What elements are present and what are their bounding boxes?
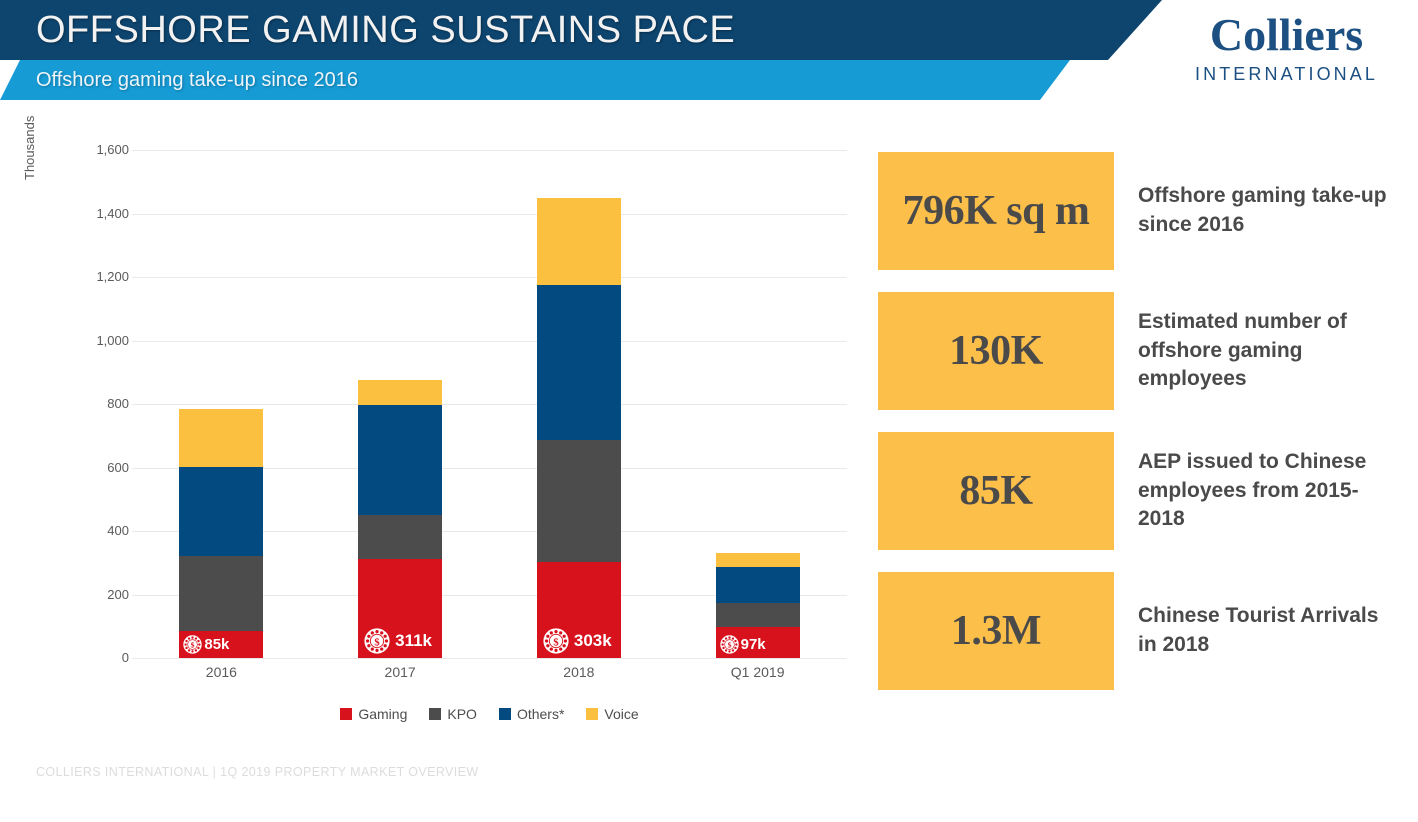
bar-slot: $85k (132, 150, 311, 658)
y-axis-tick-label: 400 (49, 523, 129, 538)
stat-description: Estimated number of offshore gaming empl… (1138, 308, 1398, 395)
casino-chip-icon: $ (364, 628, 390, 654)
stat-description: Offshore gaming take-up since 2016 (1138, 182, 1398, 240)
bar-segment-gaming: $85k (179, 631, 263, 658)
bar-value-annotation: $97k (720, 635, 766, 654)
bar-segment-kpo (716, 603, 800, 627)
y-axis-tick-label: 1,200 (49, 269, 129, 284)
bar-segment-voice (179, 409, 263, 467)
bar-segment-kpo (179, 556, 263, 631)
page-subtitle: Offshore gaming take-up since 2016 (36, 69, 358, 92)
legend-swatch-icon (586, 708, 598, 720)
bar-segment-kpo (537, 440, 621, 562)
stat-value: 1.3M (951, 607, 1041, 655)
bar-segment-others (716, 567, 800, 603)
bar-segment-gaming: $303k (537, 562, 621, 658)
y-axis-tick-label: 200 (49, 587, 129, 602)
bar-value-text: 85k (204, 636, 229, 653)
svg-text:$: $ (191, 641, 195, 650)
legend-swatch-icon (340, 708, 352, 720)
bar-segment-voice (358, 380, 442, 405)
legend-label: Voice (604, 706, 638, 722)
bar-2018[interactable]: $303k (537, 198, 621, 658)
svg-text:$: $ (727, 641, 731, 650)
stat-card: 796K sq mOffshore gaming take-up since 2… (878, 152, 1398, 270)
stat-value: 85K (959, 467, 1032, 515)
casino-chip-icon: $ (720, 635, 739, 654)
stat-card: 130KEstimated number of offshore gaming … (878, 292, 1398, 410)
legend-item-others[interactable]: Others* (499, 706, 564, 722)
legend-label: KPO (447, 706, 477, 722)
stat-value: 796K sq m (903, 187, 1090, 235)
bar-segment-others (537, 285, 621, 440)
stat-card: 85KAEP issued to Chinese employees from … (878, 432, 1398, 550)
stat-description: Chinese Tourist Arrivals in 2018 (1138, 602, 1398, 660)
logo-subtext: INTERNATIONAL (1195, 64, 1378, 85)
header-banner-secondary: Offshore gaming take-up since 2016 (0, 60, 1070, 100)
legend-swatch-icon (499, 708, 511, 720)
y-axis-tick-label: 1,600 (49, 142, 129, 157)
legend-item-voice[interactable]: Voice (586, 706, 638, 722)
bar-slot: $303k (490, 150, 669, 658)
bar-value-text: 303k (574, 631, 612, 651)
stat-value-box: 85K (878, 432, 1114, 550)
bar-segment-kpo (358, 515, 442, 559)
legend-swatch-icon (429, 708, 441, 720)
chart-bars: $85k$311k$303k$97k (132, 150, 847, 658)
x-axis-tick-label: 2018 (490, 664, 669, 680)
stat-card: 1.3MChinese Tourist Arrivals in 2018 (878, 572, 1398, 690)
stacked-bar-chart: 1,6001,4001,2001,0008006004002000 $85k$3… (22, 150, 852, 740)
bar-segment-voice (716, 553, 800, 567)
gridline (132, 658, 847, 659)
y-axis-tick-label: 1,000 (49, 333, 129, 348)
y-axis-tick-label: 800 (49, 396, 129, 411)
stat-value-box: 796K sq m (878, 152, 1114, 270)
bar-segment-others (179, 467, 263, 556)
casino-chip-icon: $ (543, 628, 569, 654)
bar-slot: $97k (668, 150, 847, 658)
bar-segment-voice (537, 198, 621, 285)
y-axis-tick-label: 1,400 (49, 206, 129, 221)
bar-segment-others (358, 405, 442, 515)
legend-item-kpo[interactable]: KPO (429, 706, 477, 722)
x-axis-tick-label: Q1 2019 (668, 664, 847, 680)
bar-value-text: 311k (395, 631, 432, 651)
legend-label: Gaming (358, 706, 407, 722)
colliers-logo: Colliers INTERNATIONAL (1195, 12, 1378, 85)
casino-chip-icon: $ (183, 635, 202, 654)
page-title: OFFSHORE GAMING SUSTAINS PACE (36, 9, 735, 52)
bar-value-annotation: $303k (543, 628, 612, 654)
slide-root: OFFSHORE GAMING SUSTAINS PACE Offshore g… (0, 0, 1418, 822)
x-axis-tick-label: 2016 (132, 664, 311, 680)
stat-value: 130K (949, 327, 1043, 375)
bar-segment-gaming: $97k (716, 627, 800, 658)
stat-value-box: 1.3M (878, 572, 1114, 690)
footer-text: COLLIERS INTERNATIONAL | 1Q 2019 PROPERT… (36, 765, 479, 779)
bar-value-annotation: $85k (183, 635, 229, 654)
bar-segment-gaming: $311k (358, 559, 442, 658)
bar-2017[interactable]: $311k (358, 380, 442, 658)
legend-item-gaming[interactable]: Gaming (340, 706, 407, 722)
bar-2016[interactable]: $85k (179, 409, 263, 658)
y-axis-tick-label: 0 (49, 650, 129, 665)
chart-legend: GamingKPOOthers*Voice (132, 706, 847, 722)
bar-q1-2019[interactable]: $97k (716, 553, 800, 658)
stat-description: AEP issued to Chinese employees from 201… (1138, 448, 1398, 535)
logo-wordmark: Colliers (1195, 12, 1378, 58)
bar-value-text: 97k (741, 636, 766, 653)
stat-card-list: 796K sq mOffshore gaming take-up since 2… (878, 152, 1398, 712)
x-axis-labels: 201620172018Q1 2019 (132, 664, 847, 680)
stat-value-box: 130K (878, 292, 1114, 410)
legend-label: Others* (517, 706, 564, 722)
bar-slot: $311k (311, 150, 490, 658)
svg-text:$: $ (553, 637, 558, 648)
header-banner-primary: OFFSHORE GAMING SUSTAINS PACE (0, 0, 1162, 60)
bar-value-annotation: $311k (364, 628, 432, 654)
chart-plot-area: 1,6001,4001,2001,0008006004002000 $85k$3… (132, 150, 847, 658)
svg-text:$: $ (374, 637, 379, 648)
y-axis-tick-label: 600 (49, 460, 129, 475)
x-axis-tick-label: 2017 (311, 664, 490, 680)
